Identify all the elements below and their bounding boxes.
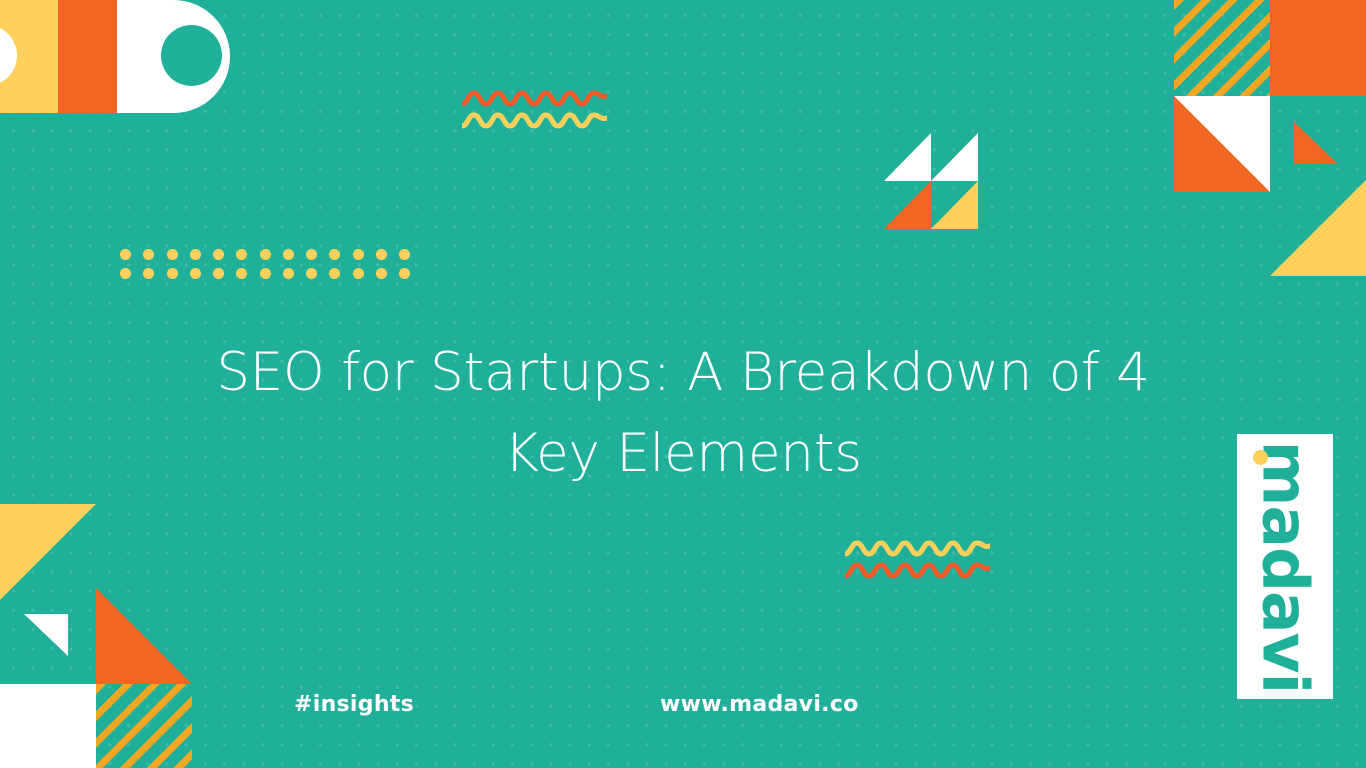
yellow-dot-row — [120, 268, 410, 279]
letter-d-white-counter — [161, 25, 222, 86]
hashtag-label: #insights — [294, 692, 414, 717]
website-label: www.madavi.co — [660, 692, 859, 717]
page-title: SEO for Startups: A Breakdown of 4 Key E… — [183, 332, 1183, 494]
wave-pair-top — [462, 88, 607, 134]
slide-canvas: SEO for Startups: A Breakdown of 4 Key E… — [0, 0, 1366, 768]
wave-pair-bottom — [845, 538, 990, 584]
madavi-logo-text: madavi — [1254, 440, 1317, 692]
page-title-line-1: SEO for Startups: A Breakdown of 4 — [183, 332, 1183, 413]
pinwheel-quadrant-bottom-left — [884, 181, 931, 229]
orange-triangle-icon — [96, 588, 192, 684]
orange-square-icon — [1270, 0, 1366, 96]
wave-yellow-icon — [462, 110, 607, 132]
page-title-line-2: Key Elements — [183, 413, 1183, 494]
top-left-letter-cluster — [0, 0, 246, 113]
pinwheel-quadrant-bottom-right — [931, 181, 978, 229]
triangle-pinwheel-icon — [884, 133, 978, 230]
pinwheel-quadrant-top-right — [931, 133, 978, 181]
madavi-logo-card: madavi — [1237, 434, 1333, 699]
wave-yellow-lower-icon — [845, 538, 990, 560]
yellow-dot-grid — [120, 249, 410, 279]
wave-orange-lower-icon — [845, 560, 990, 582]
bottom-left-decor-grid — [0, 576, 192, 768]
letter-d-yellow-counter — [0, 25, 17, 86]
footer: #insights www.madavi.co — [0, 692, 1366, 732]
madavi-logo-dot-icon — [1253, 450, 1268, 465]
yellow-dot-row — [120, 249, 410, 260]
wave-orange-icon — [462, 88, 607, 110]
pinwheel-quadrant-top-left — [884, 133, 931, 181]
yellow-corner-triangle-top-right-icon — [1270, 180, 1366, 276]
white-arrow-triangle-icon — [0, 588, 96, 684]
diagonal-stripes-icon — [1174, 0, 1270, 96]
small-orange-triangle-icon — [1270, 96, 1366, 192]
top-right-decor-grid — [1174, 0, 1366, 192]
orange-white-triangle-icon — [1174, 96, 1270, 192]
